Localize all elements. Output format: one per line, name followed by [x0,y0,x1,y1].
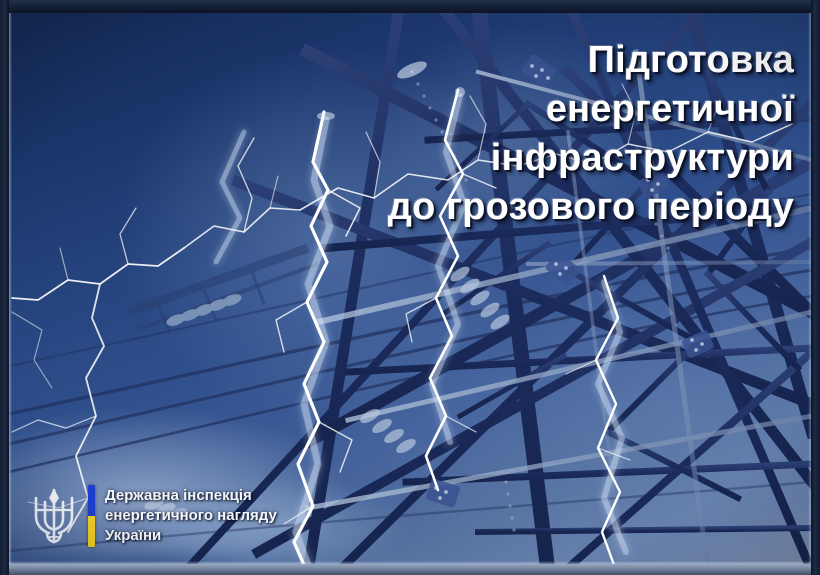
org-line-1: Державна інспекція [105,486,277,506]
org-line-3: України [105,526,277,546]
frame-bottom-edge [0,564,820,575]
poster-root: Підготовка енергетичної інфраструктури д… [0,0,820,575]
storm-scene: Підготовка енергетичної інфраструктури д… [8,12,812,565]
organisation-name: Державна інспекція енергетичного нагляду… [105,486,277,546]
frame-right-edge [811,0,820,575]
lightning-bolts [8,12,812,565]
ukraine-flag-bar [88,485,95,547]
org-line-2: енергетичного нагляду [105,506,277,526]
organisation-logo: Державна інспекція енергетичного нагляду… [30,485,277,547]
ukrainian-trident-icon [30,486,78,546]
